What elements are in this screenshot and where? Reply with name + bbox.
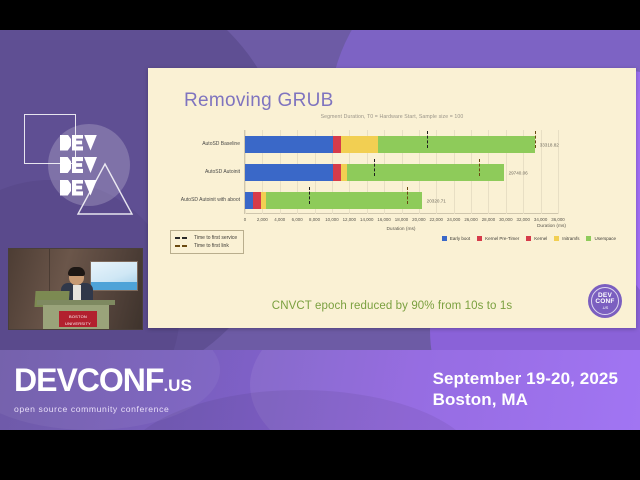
dashed-line-icon bbox=[175, 245, 190, 246]
chart-bar-segment bbox=[245, 164, 333, 181]
chart-x-tick-label: 32,000 bbox=[517, 217, 530, 222]
slide-footer-note: CNVCT epoch reduced by 90% from 10s to 1… bbox=[148, 300, 636, 312]
webcam-projector-screen bbox=[90, 261, 138, 291]
chart-y-tick-label: AutoSD Baseline bbox=[202, 141, 240, 147]
chart-x-tick-label: 28,000 bbox=[482, 217, 495, 222]
chart-x-tick-label: 20,000 bbox=[412, 217, 425, 222]
speaker-hair bbox=[68, 267, 85, 276]
chart-x-tick-label: 34,000 bbox=[534, 217, 547, 222]
chart-bar-segment bbox=[245, 136, 333, 153]
chart-plot-area: 02,0004,0006,0008,00010,00012,00014,0001… bbox=[244, 130, 558, 214]
chart-bar-segment bbox=[245, 192, 253, 209]
chart-x-tick-label: 4,000 bbox=[274, 217, 285, 222]
legend-row-first-link: Time to first link bbox=[175, 242, 237, 250]
slide: Removing GRUB Segment Duration, T0 = Har… bbox=[148, 68, 636, 328]
chart-bar-value-label: 33318.82 bbox=[540, 143, 559, 148]
legend-row-first-service: Time to first service bbox=[175, 234, 237, 242]
dashed-line-icon bbox=[175, 237, 190, 238]
chart-x-tick-label: 30,000 bbox=[499, 217, 512, 222]
color-legend-swatch bbox=[477, 236, 482, 241]
chart-bar-value-label: 20320.71 bbox=[427, 199, 446, 204]
letterbox-top bbox=[0, 0, 640, 30]
chart-marker-line bbox=[479, 159, 480, 176]
chart-marker-line bbox=[374, 159, 375, 176]
chart-x-tick-label: 16,000 bbox=[377, 217, 390, 222]
color-legend-item: Kernel bbox=[526, 236, 547, 241]
devconf-watermark-icon: DEV CONF .US bbox=[588, 284, 622, 318]
legend-label: Time to first service bbox=[194, 235, 237, 241]
color-legend-item: Early boot bbox=[442, 236, 470, 241]
legend-label: Time to first link bbox=[194, 243, 229, 249]
color-legend-label: Kernel Pre-Timer bbox=[485, 236, 519, 241]
event-banner: DEVCONF .US open source community confer… bbox=[0, 350, 640, 430]
banner-location: Boston, MA bbox=[433, 389, 618, 410]
chart-subtitle: Segment Duration, T0 = Hardware Start, S… bbox=[170, 114, 614, 120]
chart-x-tick-label: 0 bbox=[244, 217, 246, 222]
chart-marker-line bbox=[427, 131, 428, 148]
color-legend-item: Kernel Pre-Timer bbox=[477, 236, 519, 241]
chart-bar-value-label: 29740.06 bbox=[509, 171, 528, 176]
banner-brand: DEVCONF .US bbox=[14, 364, 192, 402]
chart-x-tick-label: 14,000 bbox=[360, 217, 373, 222]
devconf-dev-logo bbox=[18, 112, 136, 224]
chart-bar-segment bbox=[347, 164, 504, 181]
chart-x-tick-label: 26,000 bbox=[464, 217, 477, 222]
chart-bar-segment bbox=[266, 192, 421, 209]
chart-x-tick-label: 2,000 bbox=[257, 217, 268, 222]
color-legend-label: Initramfs bbox=[562, 236, 579, 241]
color-legend-swatch bbox=[442, 236, 447, 241]
color-legend-swatch bbox=[526, 236, 531, 241]
chart-y-tick-label: AutoSD Autoinit bbox=[205, 169, 240, 175]
banner-tagline: open source community conference bbox=[14, 404, 192, 414]
logo-wordmark bbox=[60, 134, 120, 196]
color-legend-item: Userspace bbox=[586, 236, 616, 241]
chart-color-legend: Early bootKernel Pre-TimerKernelInitramf… bbox=[442, 236, 616, 241]
color-legend-label: Early boot bbox=[450, 236, 470, 241]
chart-marker-line bbox=[407, 187, 408, 204]
chart-y-tick-label: AutoSD Autoinit with aboot bbox=[181, 197, 240, 203]
color-legend-label: Kernel bbox=[534, 236, 547, 241]
chart-x-tick-label: 10,000 bbox=[325, 217, 338, 222]
chart-marker-legend: Time to first service Time to first link bbox=[170, 230, 244, 254]
slide-title: Removing GRUB bbox=[184, 90, 334, 112]
chart-color-legend-title: Duration (ms) bbox=[537, 224, 566, 229]
chart-x-tick-label: 36,000 bbox=[551, 217, 564, 222]
color-legend-swatch bbox=[554, 236, 559, 241]
speaker-webcam: BOSTON UNIVERSITY bbox=[8, 248, 143, 330]
boot-duration-chart: Segment Duration, T0 = Hardware Start, S… bbox=[170, 126, 614, 266]
logo-wordmark-row bbox=[60, 179, 120, 196]
chart-x-tick-label: 6,000 bbox=[292, 217, 303, 222]
chart-bar-segment bbox=[341, 136, 378, 153]
chart-x-tick-label: 12,000 bbox=[343, 217, 356, 222]
watermark-line3: .US bbox=[602, 306, 609, 310]
banner-date: September 19-20, 2025 bbox=[433, 368, 618, 389]
webcam-podium: BOSTON UNIVERSITY bbox=[43, 303, 109, 329]
chart-marker-line bbox=[309, 187, 310, 204]
screenshot-stage: Removing GRUB Segment Duration, T0 = Har… bbox=[0, 0, 640, 480]
banner-event-info: September 19-20, 2025 Boston, MA bbox=[433, 368, 618, 410]
color-legend-item: Initramfs bbox=[554, 236, 579, 241]
chart-x-tick-label: 22,000 bbox=[430, 217, 443, 222]
banner-brand-block: DEVCONF .US open source community confer… bbox=[14, 364, 192, 414]
color-legend-label: Userspace bbox=[594, 236, 616, 241]
chart-bar bbox=[245, 192, 422, 209]
speaker-shirt bbox=[73, 285, 81, 301]
logo-wordmark-row bbox=[60, 134, 120, 151]
letterbox-bottom bbox=[0, 430, 640, 480]
chart-marker-line bbox=[535, 131, 536, 148]
chart-x-tick-label: 8,000 bbox=[309, 217, 320, 222]
chart-bar-segment bbox=[378, 136, 535, 153]
chart-x-tick-label: 18,000 bbox=[395, 217, 408, 222]
chart-bar bbox=[245, 136, 535, 153]
podium-sign: BOSTON UNIVERSITY bbox=[59, 311, 97, 327]
color-legend-swatch bbox=[586, 236, 591, 241]
logo-wordmark-row bbox=[60, 157, 120, 174]
banner-brand-main: DEVCONF bbox=[14, 364, 163, 396]
chart-x-tick-label: 24,000 bbox=[447, 217, 460, 222]
banner-brand-suffix: .US bbox=[163, 370, 191, 402]
chart-x-axis-title: Duration (ms) bbox=[244, 227, 558, 232]
chart-plot-inner: 02,0004,0006,0008,00010,00012,00014,0001… bbox=[244, 130, 558, 214]
